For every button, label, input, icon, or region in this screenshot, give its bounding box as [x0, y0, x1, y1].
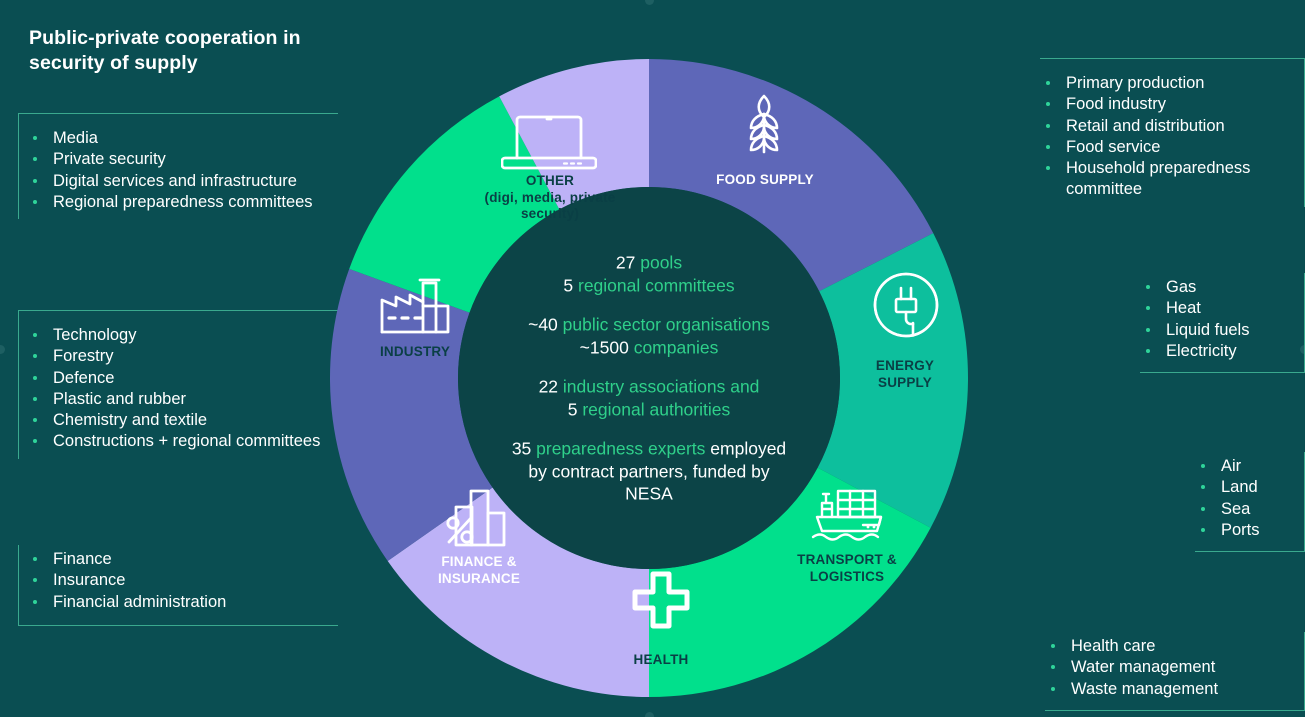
industry-list-panel: Technology Forestry Defence Plastic and … [18, 310, 338, 459]
list-item: Health care [1045, 636, 1290, 657]
other-list: Media Private security Digital services … [27, 128, 338, 213]
list-item: Food industry [1040, 94, 1290, 115]
list-item: Household preparedness committee [1040, 158, 1290, 201]
list-item: Constructions + regional committees [27, 431, 338, 452]
list-item: Food service [1040, 137, 1290, 158]
list-item: Primary production [1040, 73, 1290, 94]
bullet-icon [1046, 124, 1050, 128]
bullet-icon [33, 600, 37, 604]
bullet-icon [1201, 528, 1205, 532]
bullet-icon [1146, 306, 1150, 310]
bullet-icon [1046, 166, 1050, 170]
other-list-panel: Media Private security Digital services … [18, 113, 338, 219]
health-list: Health care Water management Waste manag… [1045, 636, 1290, 700]
finance-list-panel: Finance Insurance Financial administrati… [18, 545, 338, 626]
transport-list: Air Land Sea Ports [1195, 456, 1290, 541]
decorative-dot-bottom [645, 712, 654, 717]
list-item: Gas [1140, 277, 1290, 298]
bullet-icon [1201, 464, 1205, 468]
transport-list-panel: Air Land Sea Ports [1195, 452, 1305, 552]
list-item: Financial administration [27, 592, 338, 613]
list-item: Digital services and infrastructure [27, 171, 338, 192]
list-item: Insurance [27, 570, 338, 591]
food-supply-list-panel: Primary production Food industry Retail … [1040, 58, 1305, 207]
bullet-icon [33, 200, 37, 204]
list-item: Land [1195, 477, 1290, 498]
list-item: Regional preparedness committees [27, 192, 338, 213]
bullet-icon [33, 439, 37, 443]
health-list-panel: Health care Water management Waste manag… [1045, 632, 1305, 711]
list-item: Chemistry and textile [27, 410, 338, 431]
bullet-icon [1146, 328, 1150, 332]
list-item: Finance [27, 549, 338, 570]
bullet-icon [33, 376, 37, 380]
infographic-slide: Public-private cooperation in security o… [0, 0, 1305, 717]
bullet-icon [33, 557, 37, 561]
decorative-dot-left [0, 345, 5, 354]
donut-svg [329, 58, 969, 698]
list-item: Ports [1195, 520, 1290, 541]
list-item: Water management [1045, 657, 1290, 678]
list-item: Media [27, 128, 338, 149]
list-item: Liquid fuels [1140, 320, 1290, 341]
bullet-icon [1046, 81, 1050, 85]
bullet-icon [33, 179, 37, 183]
list-item: Sea [1195, 499, 1290, 520]
bullet-icon [1146, 349, 1150, 353]
list-item: Technology [27, 325, 338, 346]
industry-list: Technology Forestry Defence Plastic and … [27, 325, 338, 453]
bullet-icon [1201, 507, 1205, 511]
bullet-icon [1046, 145, 1050, 149]
list-item: Waste management [1045, 679, 1290, 700]
list-item: Electricity [1140, 341, 1290, 362]
donut-chart: FOOD SUPPLY ENERGY SUPPLY TRANSPORT & LO… [329, 58, 969, 698]
donut-hub-circle [458, 187, 840, 569]
bullet-icon [33, 578, 37, 582]
bullet-icon [1051, 644, 1055, 648]
bullet-icon [33, 397, 37, 401]
decorative-dot-top [645, 0, 654, 5]
list-item: Air [1195, 456, 1290, 477]
bullet-icon [33, 354, 37, 358]
energy-supply-list: Gas Heat Liquid fuels Electricity [1140, 277, 1290, 362]
list-item: Private security [27, 149, 338, 170]
bullet-icon [1201, 485, 1205, 489]
list-item: Retail and distribution [1040, 116, 1290, 137]
energy-supply-list-panel: Gas Heat Liquid fuels Electricity [1140, 273, 1305, 373]
bullet-icon [1051, 665, 1055, 669]
list-item: Heat [1140, 298, 1290, 319]
bullet-icon [1046, 102, 1050, 106]
bullet-icon [33, 136, 37, 140]
list-item: Defence [27, 368, 338, 389]
page-title: Public-private cooperation in security o… [29, 26, 359, 76]
finance-list: Finance Insurance Financial administrati… [27, 549, 338, 613]
bullet-icon [1051, 687, 1055, 691]
food-supply-list: Primary production Food industry Retail … [1040, 73, 1290, 201]
bullet-icon [33, 418, 37, 422]
list-item: Forestry [27, 346, 338, 367]
bullet-icon [33, 333, 37, 337]
bullet-icon [1146, 285, 1150, 289]
list-item: Plastic and rubber [27, 389, 338, 410]
bullet-icon [33, 157, 37, 161]
